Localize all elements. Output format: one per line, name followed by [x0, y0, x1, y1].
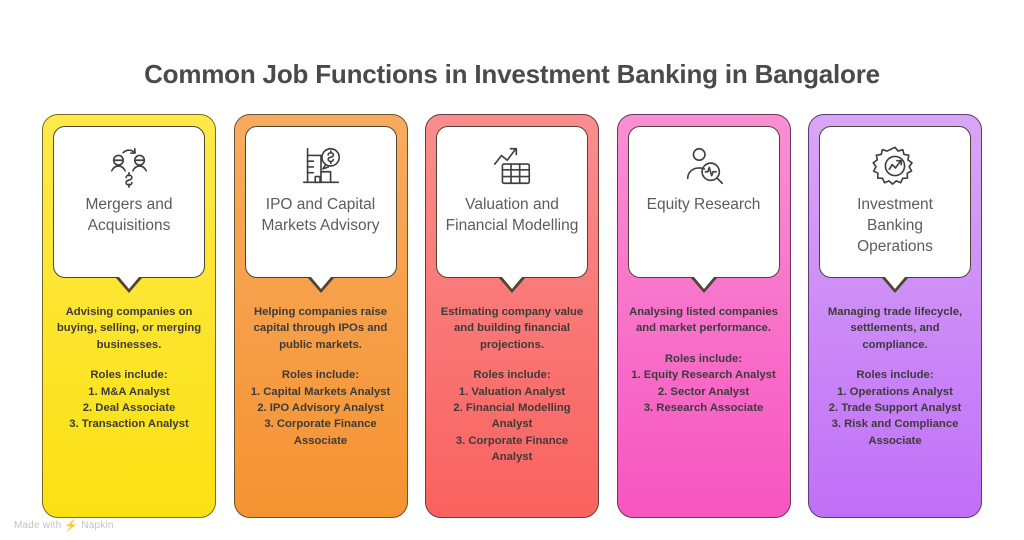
- card-roles-title: Roles include:: [437, 367, 587, 383]
- card-bubble: Investment Banking Operations: [819, 126, 971, 278]
- card-bubble-wrap: Mergers and Acquisitions: [53, 126, 205, 278]
- card-roles-title: Roles include:: [629, 351, 779, 367]
- bubble-pointer: [885, 277, 905, 289]
- cards-row: Mergers and AcquisitionsAdvising compani…: [42, 114, 982, 518]
- card-heading: IPO and Capital Markets Advisory: [246, 195, 396, 237]
- card-roles-list: 1. Equity Research Analyst2. Sector Anal…: [629, 367, 779, 416]
- card-bubble-wrap: IPO and Capital Markets Advisory: [245, 126, 397, 278]
- card-roles-title: Roles include:: [820, 367, 970, 383]
- card-roles-title: Roles include:: [246, 367, 396, 383]
- card-bubble: Equity Research: [628, 126, 780, 278]
- card-bubble: Valuation and Financial Modelling: [436, 126, 588, 278]
- card-body: Advising companies on buying, selling, o…: [54, 304, 204, 433]
- card-bubble-wrap: Valuation and Financial Modelling: [436, 126, 588, 278]
- people-exchange-dollar-icon: [106, 143, 152, 189]
- bubble-pointer: [694, 277, 714, 289]
- card-heading: Mergers and Acquisitions: [54, 195, 204, 237]
- card-mergers-and-acquisitions[interactable]: Mergers and AcquisitionsAdvising compani…: [42, 114, 216, 518]
- bubble-pointer: [119, 277, 139, 289]
- card-description: Analysing listed companies and market pe…: [629, 304, 779, 337]
- card-body: Managing trade lifecycle, settlements, a…: [820, 304, 970, 449]
- card-heading: Valuation and Financial Modelling: [437, 195, 587, 237]
- watermark-prefix: Made with: [14, 520, 61, 531]
- bubble-pointer: [502, 277, 522, 289]
- card-roles-list: 1. Capital Markets Analyst2. IPO Advisor…: [246, 384, 396, 450]
- person-magnifier-pulse-icon: [681, 143, 727, 189]
- card-bubble: IPO and Capital Markets Advisory: [245, 126, 397, 278]
- card-description: Advising companies on buying, selling, o…: [54, 304, 204, 353]
- card-bubble-wrap: Investment Banking Operations: [819, 126, 971, 278]
- card-body: Analysing listed companies and market pe…: [629, 304, 779, 416]
- card-heading: Equity Research: [639, 195, 769, 216]
- card-roles-list: 1. Valuation Analyst2. Financial Modelli…: [437, 384, 587, 466]
- gear-trendline-icon: [872, 143, 918, 189]
- card-bubble: Mergers and Acquisitions: [53, 126, 205, 278]
- page-title: Common Job Functions in Investment Banki…: [0, 59, 1024, 90]
- card-ipo-and-capital-markets-advisory[interactable]: IPO and Capital Markets AdvisoryHelping …: [234, 114, 408, 518]
- growth-chart-table-icon: [489, 143, 535, 189]
- napkin-watermark: Made with ⚡ Napkin: [14, 519, 114, 532]
- card-heading: Investment Banking Operations: [820, 195, 970, 258]
- card-description: Helping companies raise capital through …: [246, 304, 396, 353]
- bubble-pointer: [311, 277, 331, 289]
- lightning-bolt-icon: ⚡: [64, 519, 78, 532]
- watermark-brand: Napkin: [81, 520, 113, 531]
- card-valuation-and-financial-modelling[interactable]: Valuation and Financial ModellingEstimat…: [425, 114, 599, 518]
- card-body: Helping companies raise capital through …: [246, 304, 396, 449]
- building-dollar-bubble-icon: [298, 143, 344, 189]
- card-body: Estimating company value and building fi…: [437, 304, 587, 465]
- card-bubble-wrap: Equity Research: [628, 126, 780, 278]
- card-investment-banking-operations[interactable]: Investment Banking OperationsManaging tr…: [808, 114, 982, 518]
- card-equity-research[interactable]: Equity ResearchAnalysing listed companie…: [617, 114, 791, 518]
- card-roles-list: 1. M&A Analyst2. Deal Associate3. Transa…: [54, 384, 204, 433]
- card-description: Managing trade lifecycle, settlements, a…: [820, 304, 970, 353]
- card-description: Estimating company value and building fi…: [437, 304, 587, 353]
- card-roles-title: Roles include:: [54, 367, 204, 383]
- card-roles-list: 1. Operations Analyst2. Trade Support An…: [820, 384, 970, 450]
